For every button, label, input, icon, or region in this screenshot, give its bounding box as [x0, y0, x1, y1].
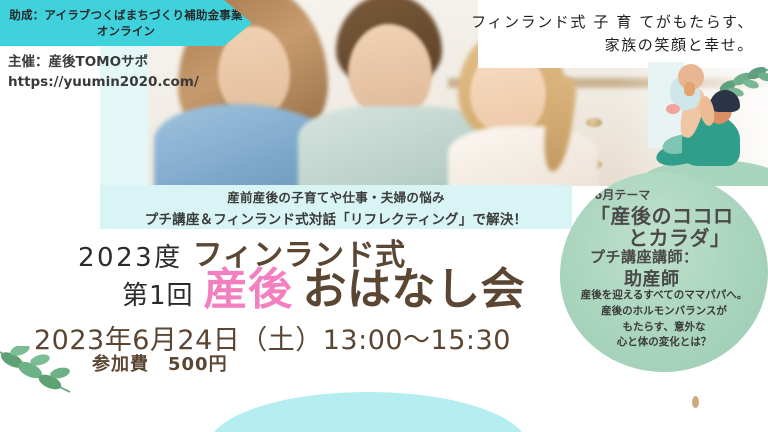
- title-year: 2023度: [78, 237, 183, 274]
- leaf-sprig-icon: [0, 346, 74, 400]
- dad-lifting-baby-illustration: [648, 62, 768, 186]
- title-ohanashi: おはなし会: [303, 268, 526, 312]
- organizer-url[interactable]: https://yuumin2020.com/: [8, 72, 188, 92]
- organizer-label: 主催：産後TOMOサポ: [8, 52, 188, 72]
- grant-banner: 助成：アイラブつくばまちづくり補助金事業 オンライン: [0, 0, 252, 46]
- title-sango: 産後: [204, 268, 293, 312]
- headline-line2: 家族の笑顔と幸せ。: [605, 34, 754, 57]
- theme-description-line: もたらす、意外な: [560, 320, 768, 336]
- main-title: 2023度 フィンランド式 第1回 産後 おはなし会: [78, 230, 548, 312]
- headline-line1: フィンランド式 子 育 てがもたらす、: [471, 11, 754, 34]
- host-info: 主催：産後TOMOサポ https://yuumin2020.com/: [8, 52, 188, 93]
- illustration-baby-hand: [684, 82, 695, 96]
- lecturer-label: プチ講座講師：: [590, 246, 699, 267]
- illustration-baby-foot: [666, 104, 680, 114]
- decorative-dot: [692, 396, 699, 408]
- event-flyer: 助成：アイラブつくばまちづくり補助金事業 オンライン 主催：産後TOMOサポ h…: [0, 0, 768, 432]
- subtitle-line1: 産前産後の子育てや仕事・夫婦の悩み: [227, 187, 445, 206]
- monthly-theme-circle: 6月テーマ 「産後のココロ とカラダ」 プチ講座講師： 助産師 産後を迎えるすべ…: [560, 172, 768, 372]
- theme-description: 産後を迎えるすべてのママパパへ。 産後のホルモンバランスが もたらす、意外な 心…: [560, 288, 768, 351]
- headline-box: フィンランド式 子 育 てがもたらす、 家族の笑顔と幸せ。: [478, 0, 768, 68]
- title-row-2: 第1回 産後 おはなし会: [78, 268, 548, 312]
- grant-banner-line1: 助成：アイラブつくばまちづくり補助金事業: [9, 8, 242, 22]
- grant-banner-line2: オンライン: [97, 24, 156, 38]
- bottom-cyan-arc: [208, 392, 528, 432]
- photo-drawer-knob: [586, 118, 602, 127]
- subtitle-band: 産前産後の子育てや仕事・夫婦の悩み プチ講座＆フィンランド式対話「リフレクティン…: [100, 185, 572, 229]
- subtitle-line2: プチ講座＆フィンランド式対話「リフレクティング」で解決！: [145, 208, 528, 228]
- theme-description-line: 産後のホルモンバランスが: [560, 304, 768, 320]
- title-session: 第1回: [122, 275, 194, 312]
- event-fee: 参加費 500円: [92, 350, 228, 376]
- theme-description-line: 産後を迎えるすべてのママパパへ。: [560, 288, 768, 304]
- monthly-theme-content: 6月テーマ 「産後のココロ とカラダ」 プチ講座講師： 助産師 産後を迎えるすべ…: [560, 172, 768, 372]
- theme-description-line: 心と体の変化とは？: [560, 335, 768, 351]
